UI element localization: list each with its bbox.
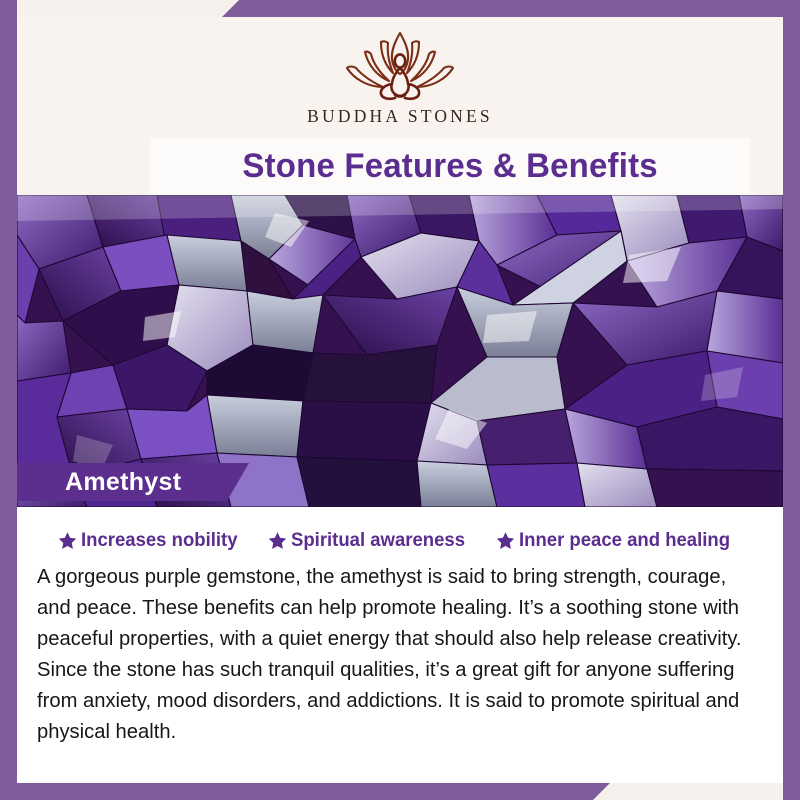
corner-frame-left (0, 0, 17, 800)
page-title: Stone Features & Benefits (242, 147, 657, 186)
stone-description: A gorgeous purple gemstone, the amethyst… (37, 561, 752, 747)
feature-item: Inner peace and healing (496, 529, 741, 552)
feature-list: Increases nobility Spiritual awareness I… (17, 507, 783, 552)
amethyst-crystal-illustration (17, 195, 783, 507)
stone-name-label: Amethyst (17, 468, 181, 497)
lotus-meditation-figure-icon (335, 27, 465, 105)
feature-label: Increases nobility (81, 529, 237, 552)
corner-frame-bottom (0, 783, 610, 800)
description-section: Increases nobility Spiritual awareness I… (17, 507, 783, 783)
corner-frame-right (783, 0, 800, 800)
stone-name-bar: Amethyst (17, 463, 249, 501)
content-card: BUDDHA STONES Stone Features & Benefits (17, 17, 783, 783)
amethyst-photo (17, 195, 783, 507)
infographic-page: BUDDHA STONES Stone Features & Benefits (0, 0, 800, 800)
brand-header: BUDDHA STONES (17, 17, 783, 142)
feature-item: Spiritual awareness (268, 529, 474, 552)
feature-item: Increases nobility (58, 529, 246, 552)
feature-label: Spiritual awareness (291, 529, 465, 552)
brand-name: BUDDHA STONES (307, 106, 493, 127)
title-banner: Stone Features & Benefits (150, 138, 750, 195)
star-icon (496, 531, 515, 550)
star-icon (58, 531, 77, 550)
feature-label: Inner peace and healing (519, 529, 730, 552)
star-icon (268, 531, 287, 550)
corner-frame-top (222, 0, 800, 17)
